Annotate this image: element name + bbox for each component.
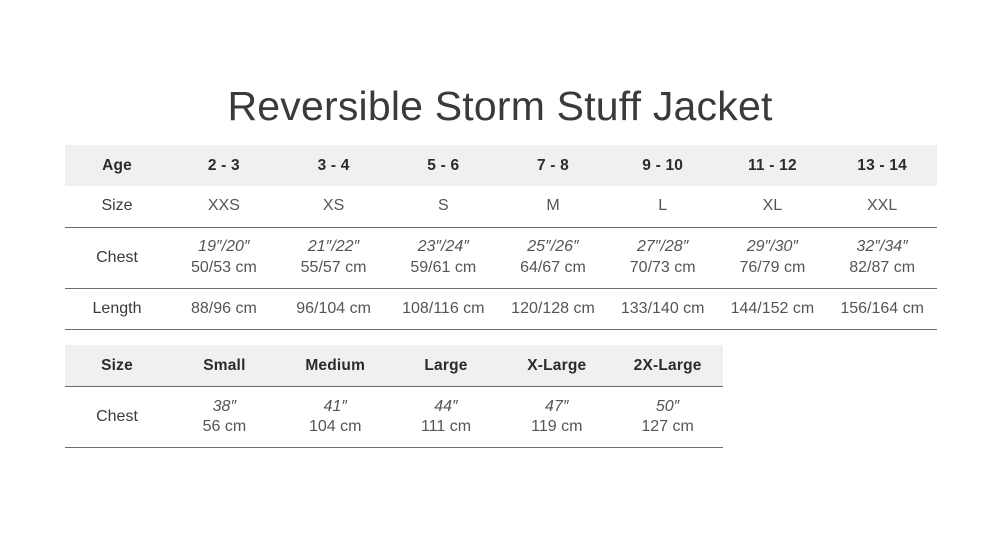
kids-length-4: 120/128 cm: [498, 288, 608, 329]
kids-header-col-7: 13 - 14: [827, 145, 937, 186]
kids-length-3: 108/116 cm: [388, 288, 498, 329]
kids-chest-4-inches: 25″/26″: [498, 237, 608, 257]
kids-chest-5-cm: 70/73 cm: [608, 258, 718, 278]
adults-header-col-3: Large: [391, 345, 502, 387]
adults-chest-2: 41″ 104 cm: [280, 387, 391, 448]
kids-chest-5: 27″/28″ 70/73 cm: [608, 227, 718, 288]
page-title: Reversible Storm Stuff Jacket: [0, 84, 1000, 129]
adults-chest-3: 44″ 111 cm: [391, 387, 502, 448]
kids-chest-7: 32″/34″ 82/87 cm: [827, 227, 937, 288]
adults-header-col-4: X-Large: [501, 345, 612, 387]
adults-chest-5: 50″ 127 cm: [612, 387, 723, 448]
table-row: Chest 19″/20″ 50/53 cm 21″/22″ 55/57 cm …: [65, 227, 937, 288]
kids-size-1: XXS: [169, 186, 279, 227]
adults-header-label: Size: [65, 345, 169, 387]
adults-chest-1-cm: 56 cm: [169, 417, 280, 437]
kids-chest-1-inches: 19″/20″: [169, 237, 279, 257]
kids-chest-1: 19″/20″ 50/53 cm: [169, 227, 279, 288]
table-header-row: Size Small Medium Large X-Large 2X-Large: [65, 345, 723, 387]
kids-chest-3-cm: 59/61 cm: [388, 258, 498, 278]
adults-header-col-1: Small: [169, 345, 280, 387]
kids-chest-2-cm: 55/57 cm: [279, 258, 389, 278]
kids-chest-5-inches: 27″/28″: [608, 237, 718, 257]
adults-chest-5-cm: 127 cm: [612, 417, 723, 437]
kids-length-7: 156/164 cm: [827, 288, 937, 329]
adults-chest-2-cm: 104 cm: [280, 417, 391, 437]
kids-row-label-size: Size: [65, 186, 169, 227]
kids-chest-6-inches: 29″/30″: [718, 237, 828, 257]
adults-header-col-5: 2X-Large: [612, 345, 723, 387]
table-header-row: Age 2 - 3 3 - 4 5 - 6 7 - 8 9 - 10 11 - …: [65, 145, 937, 186]
kids-chest-1-cm: 50/53 cm: [169, 258, 279, 278]
kids-header-col-1: 2 - 3: [169, 145, 279, 186]
kids-size-2: XS: [279, 186, 389, 227]
adults-chest-4-cm: 119 cm: [501, 417, 612, 437]
kids-length-1: 88/96 cm: [169, 288, 279, 329]
adults-chest-2-inches: 41″: [280, 397, 391, 417]
kids-table-body: Size XXS XS S M L XL XXL Chest 19″/20″ 5…: [65, 186, 937, 329]
adults-size-table: Size Small Medium Large X-Large 2X-Large…: [65, 345, 723, 448]
kids-chest-6-cm: 76/79 cm: [718, 258, 828, 278]
adults-chest-4-inches: 47″: [501, 397, 612, 417]
kids-size-6: XL: [718, 186, 828, 227]
kids-header-col-6: 11 - 12: [718, 145, 828, 186]
kids-chest-7-inches: 32″/34″: [827, 237, 937, 257]
adults-header-col-2: Medium: [280, 345, 391, 387]
kids-chest-2: 21″/22″ 55/57 cm: [279, 227, 389, 288]
kids-chest-4: 25″/26″ 64/67 cm: [498, 227, 608, 288]
kids-header-col-2: 3 - 4: [279, 145, 389, 186]
kids-row-label-chest: Chest: [65, 227, 169, 288]
kids-size-table: Age 2 - 3 3 - 4 5 - 6 7 - 8 9 - 10 11 - …: [65, 145, 937, 330]
kids-chest-3-inches: 23″/24″: [388, 237, 498, 257]
kids-length-6: 144/152 cm: [718, 288, 828, 329]
kids-table-header: Age 2 - 3 3 - 4 5 - 6 7 - 8 9 - 10 11 - …: [65, 145, 937, 186]
size-chart-page: Reversible Storm Stuff Jacket Age 2 - 3 …: [0, 0, 1000, 542]
kids-chest-4-cm: 64/67 cm: [498, 258, 608, 278]
kids-chest-6: 29″/30″ 76/79 cm: [718, 227, 828, 288]
kids-length-5: 133/140 cm: [608, 288, 718, 329]
kids-chest-7-cm: 82/87 cm: [827, 258, 937, 278]
table-row: Chest 38″ 56 cm 41″ 104 cm 44″ 111 cm 47…: [65, 387, 723, 448]
adults-row-label-chest: Chest: [65, 387, 169, 448]
kids-size-5: L: [608, 186, 718, 227]
adults-chest-1: 38″ 56 cm: [169, 387, 280, 448]
adults-table-header: Size Small Medium Large X-Large 2X-Large: [65, 345, 723, 387]
kids-size-3: S: [388, 186, 498, 227]
kids-chest-3: 23″/24″ 59/61 cm: [388, 227, 498, 288]
adults-chest-1-inches: 38″: [169, 397, 280, 417]
kids-size-4: M: [498, 186, 608, 227]
kids-header-col-3: 5 - 6: [388, 145, 498, 186]
kids-header-label: Age: [65, 145, 169, 186]
kids-header-col-5: 9 - 10: [608, 145, 718, 186]
kids-length-2: 96/104 cm: [279, 288, 389, 329]
table-row: Size XXS XS S M L XL XXL: [65, 186, 937, 227]
adults-chest-3-inches: 44″: [391, 397, 502, 417]
adults-chest-3-cm: 111 cm: [391, 417, 502, 437]
kids-size-7: XXL: [827, 186, 937, 227]
adults-chest-5-inches: 50″: [612, 397, 723, 417]
kids-row-label-length: Length: [65, 288, 169, 329]
kids-chest-2-inches: 21″/22″: [279, 237, 389, 257]
table-row: Length 88/96 cm 96/104 cm 108/116 cm 120…: [65, 288, 937, 329]
adults-table-body: Chest 38″ 56 cm 41″ 104 cm 44″ 111 cm 47…: [65, 387, 723, 448]
adults-chest-4: 47″ 119 cm: [501, 387, 612, 448]
kids-header-col-4: 7 - 8: [498, 145, 608, 186]
